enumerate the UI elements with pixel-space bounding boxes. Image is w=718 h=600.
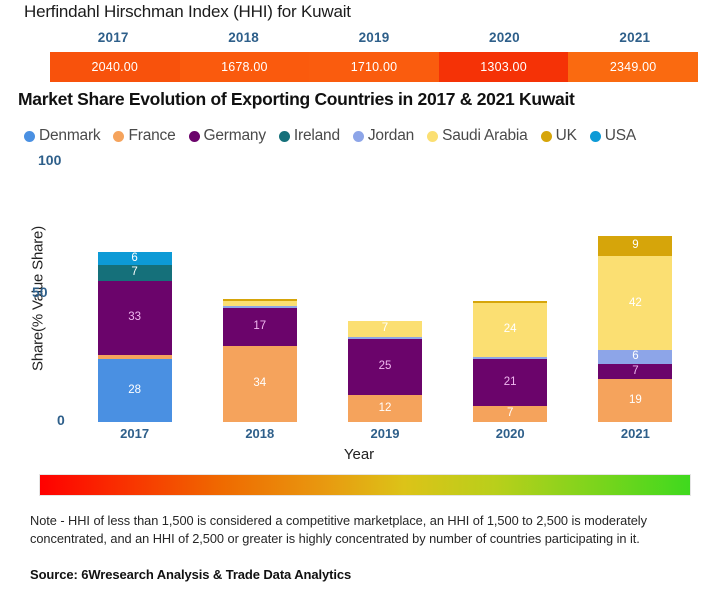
chart-legend: DenmarkFranceGermanyIrelandJordanSaudi A… bbox=[24, 127, 649, 145]
bar-segment-2017-ireland: 7 bbox=[98, 265, 172, 281]
bar-segment-2021-saudi-arabia: 42 bbox=[598, 256, 672, 350]
x-axis-title: Year bbox=[0, 446, 718, 463]
bar-segment-value: 6 bbox=[131, 253, 137, 265]
hhi-value-text: 1710.00 bbox=[351, 60, 398, 74]
y-axis-tick-0: 0 bbox=[57, 412, 65, 428]
legend-swatch-icon bbox=[189, 131, 200, 142]
x-axis-label-2018: 2018 bbox=[197, 426, 322, 441]
bar-column-2021[interactable]: 1976429 bbox=[598, 236, 672, 422]
bar-segment-2020-uk bbox=[473, 301, 547, 303]
legend-item-germany[interactable]: Germany bbox=[189, 127, 266, 145]
bar-segment-2021-uk: 9 bbox=[598, 236, 672, 256]
stacked-bar-plot-area: 283376341712257721241976429 bbox=[72, 198, 698, 422]
bar-segment-2017-usa: 6 bbox=[98, 252, 172, 265]
bar-segment-2017-germany: 33 bbox=[98, 281, 172, 355]
bar-segment-value: 24 bbox=[504, 324, 517, 336]
hhi-value-text: 2040.00 bbox=[92, 60, 139, 74]
hhi-value-cell-2021: 2349.00 bbox=[568, 52, 698, 82]
bar-segment-2018-germany: 17 bbox=[223, 308, 297, 346]
source-text: Source: 6Wresearch Analysis & Trade Data… bbox=[30, 567, 351, 582]
x-axis-label-2017: 2017 bbox=[72, 426, 197, 441]
legend-item-label: Ireland bbox=[294, 127, 340, 145]
legend-swatch-icon bbox=[113, 131, 124, 142]
bar-segment-2018-saudi-arabia bbox=[223, 301, 297, 305]
bar-segment-value: 33 bbox=[128, 312, 141, 324]
x-axis-label-2020: 2020 bbox=[448, 426, 573, 441]
hhi-value-cell-2018: 1678.00 bbox=[180, 52, 310, 82]
bar-segment-2018-france: 34 bbox=[223, 346, 297, 422]
bar-segment-value: 7 bbox=[507, 408, 513, 420]
bar-segment-value: 25 bbox=[379, 361, 392, 373]
bar-segment-value: 7 bbox=[131, 267, 137, 279]
hhi-year-label-2017: 2017 bbox=[48, 30, 178, 45]
hhi-gradient-scale-bar bbox=[40, 475, 690, 495]
hhi-value-cell-2019: 1710.00 bbox=[309, 52, 439, 82]
legend-item-jordan[interactable]: Jordan bbox=[353, 127, 414, 145]
bar-segment-2020-germany: 21 bbox=[473, 359, 547, 406]
legend-swatch-icon bbox=[279, 131, 290, 142]
bar-segment-value: 28 bbox=[128, 385, 141, 397]
bar-segment-value: 19 bbox=[629, 395, 642, 407]
hhi-value-text: 1678.00 bbox=[221, 60, 268, 74]
bar-segment-value: 7 bbox=[382, 323, 388, 335]
hhi-page-title: Herfindahl Hirschman Index (HHI) for Kuw… bbox=[24, 2, 351, 22]
bar-segment-value: 12 bbox=[379, 403, 392, 415]
bar-segment-2018-uk bbox=[223, 299, 297, 301]
bar-segment-value: 42 bbox=[629, 298, 642, 310]
bar-segment-2021-germany: 7 bbox=[598, 364, 672, 380]
footnote-text: Note - HHI of less than 1,500 is conside… bbox=[30, 512, 692, 548]
bar-column-2019[interactable]: 12257 bbox=[348, 321, 422, 422]
bar-segment-2020-jordan bbox=[473, 357, 547, 359]
legend-swatch-icon bbox=[427, 131, 438, 142]
bar-segment-value: 21 bbox=[504, 377, 517, 389]
y-axis-top-label: 100 bbox=[38, 152, 61, 168]
hhi-value-cell-2020: 1303.00 bbox=[439, 52, 569, 82]
hhi-year-label-2019: 2019 bbox=[309, 30, 439, 45]
bar-segment-value: 17 bbox=[253, 321, 266, 333]
hhi-value-text: 1303.00 bbox=[480, 60, 527, 74]
bar-segment-2019-france: 12 bbox=[348, 395, 422, 422]
bar-segment-2020-saudi-arabia: 24 bbox=[473, 303, 547, 357]
legend-item-usa[interactable]: USA bbox=[590, 127, 636, 145]
bar-segment-2021-france: 19 bbox=[598, 379, 672, 422]
bar-segment-value: 7 bbox=[632, 366, 638, 378]
hhi-year-label-2021: 2021 bbox=[570, 30, 700, 45]
legend-item-label: USA bbox=[605, 127, 636, 145]
bar-segment-value: 6 bbox=[632, 351, 638, 363]
bar-segment-value: 34 bbox=[253, 378, 266, 390]
bar-column-2020[interactable]: 72124 bbox=[473, 301, 547, 422]
legend-swatch-icon bbox=[24, 131, 35, 142]
chart-title: Market Share Evolution of Exporting Coun… bbox=[18, 89, 575, 110]
bar-segment-2019-saudi-arabia: 7 bbox=[348, 321, 422, 337]
legend-item-label: Germany bbox=[204, 127, 266, 145]
legend-item-label: UK bbox=[556, 127, 577, 145]
hhi-year-label-2020: 2020 bbox=[439, 30, 569, 45]
bar-segment-2017-france bbox=[98, 355, 172, 359]
x-axis-label-2019: 2019 bbox=[322, 426, 447, 441]
legend-item-denmark[interactable]: Denmark bbox=[24, 127, 100, 145]
legend-swatch-icon bbox=[353, 131, 364, 142]
hhi-year-label-2018: 2018 bbox=[178, 30, 308, 45]
hhi-value-cell-2017: 2040.00 bbox=[50, 52, 180, 82]
bar-segment-value: 9 bbox=[632, 240, 638, 252]
hhi-value-text: 2349.00 bbox=[610, 60, 657, 74]
legend-swatch-icon bbox=[541, 131, 552, 142]
hhi-year-header-row: 20172018201920202021 bbox=[48, 30, 700, 45]
bar-segment-2017-denmark: 28 bbox=[98, 359, 172, 422]
bar-segment-2021-jordan: 6 bbox=[598, 350, 672, 363]
legend-item-label: Jordan bbox=[368, 127, 414, 145]
bar-column-2017[interactable]: 283376 bbox=[98, 252, 172, 422]
legend-item-uk[interactable]: UK bbox=[541, 127, 577, 145]
bar-column-2018[interactable]: 3417 bbox=[223, 299, 297, 422]
bar-segment-2018-jordan bbox=[223, 306, 297, 308]
hhi-value-strip: 2040.001678.001710.001303.002349.00 bbox=[50, 52, 698, 82]
y-axis-tick-50: 50 bbox=[32, 284, 48, 300]
bar-segment-2019-jordan bbox=[348, 337, 422, 339]
legend-item-ireland[interactable]: Ireland bbox=[279, 127, 340, 145]
bar-segment-2020-france: 7 bbox=[473, 406, 547, 422]
x-axis-label-2021: 2021 bbox=[573, 426, 698, 441]
legend-item-saudi-arabia[interactable]: Saudi Arabia bbox=[427, 127, 528, 145]
legend-item-france[interactable]: France bbox=[113, 127, 175, 145]
x-axis-tick-labels: 20172018201920202021 bbox=[72, 426, 698, 444]
bar-segment-2019-germany: 25 bbox=[348, 339, 422, 395]
legend-item-label: France bbox=[128, 127, 175, 145]
legend-swatch-icon bbox=[590, 131, 601, 142]
legend-item-label: Saudi Arabia bbox=[442, 127, 528, 145]
legend-item-label: Denmark bbox=[39, 127, 100, 145]
